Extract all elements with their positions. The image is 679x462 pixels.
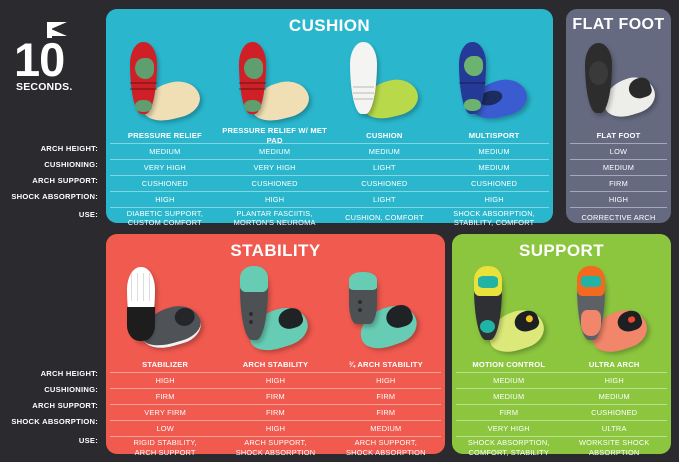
cell-value: LOW [110, 421, 220, 436]
table-row-cushioning: MEDIUM MEDIUM [456, 388, 667, 404]
column-header-pressure-relief: PRESSURE RELIEF [110, 128, 220, 143]
row-label-cushioning: CUSHIONING: [0, 156, 103, 172]
table-row-cushioning: MEDIUM [570, 159, 667, 175]
table-row-cushioning: VERY HIGH VERY HIGH LIGHT MEDIUM [110, 159, 549, 175]
table-cushion: PRESSURE RELIEF PRESSURE RELIEF W/ MET P… [110, 128, 549, 228]
cell-value: CUSHION, COMFORT [330, 208, 440, 228]
column-header-pressure-relief-met-pad: PRESSURE RELIEF W/ MET PAD [220, 128, 330, 143]
insole-pressure-relief-icon [116, 39, 216, 127]
product-images-cushion [112, 39, 547, 127]
insole-three-quarter-arch-stability-icon [333, 264, 437, 356]
cell-value: MEDIUM [331, 421, 441, 436]
panel-flat-foot: FLAT FOOT FLAT FOOT LOW MEDIUM [566, 9, 671, 223]
row-label-arch-support: ARCH SUPPORT: [0, 397, 103, 413]
table-row-arch-height: MEDIUM MEDIUM MEDIUM MEDIUM [110, 143, 549, 159]
cell-value: FIRM [110, 389, 220, 404]
table-row-use: DIABETIC SUPPORT, CUSTOM COMFORT PLANTAR… [110, 207, 549, 228]
column-header-ultra-arch: ULTRA ARCH [562, 357, 668, 372]
cell-value: CUSHIONED [439, 176, 549, 191]
row-labels-top: ARCH HEIGHT: CUSHIONING: ARCH SUPPORT: S… [0, 140, 103, 225]
column-header-cushion: CUSHION [330, 128, 440, 143]
cell-value: HIGH [220, 421, 330, 436]
insole-ultra-arch-icon [563, 264, 663, 356]
cell-value: LIGHT [330, 160, 440, 175]
cell-value: CUSHIONED [110, 176, 220, 191]
cell-value: HIGH [110, 373, 220, 388]
cell-value: MEDIUM [110, 144, 220, 159]
table-row-arch-height: LOW [570, 143, 667, 159]
row-labels-bottom: ARCH HEIGHT: CUSHIONING: ARCH SUPPORT: S… [0, 365, 103, 451]
cell-value: MEDIUM [562, 389, 668, 404]
column-header-arch-stability: ARCH STABILITY [220, 357, 330, 372]
cell-value: HIGH [220, 192, 330, 207]
cell-value: MEDIUM [570, 160, 667, 175]
panel-cushion: CUSHION [106, 9, 553, 223]
column-header-three-quarter-arch-stability: ¾ ARCH STABILITY [331, 357, 441, 372]
table-header-row-support: MOTION CONTROL ULTRA ARCH [456, 357, 667, 372]
column-header-flat-foot: FLAT FOOT [570, 128, 667, 143]
cell-value: VERY HIGH [110, 160, 220, 175]
product-images-flat-foot [568, 39, 669, 127]
cell-value: CORRECTIVE ARCH [570, 208, 667, 228]
panel-title-support: SUPPORT [452, 241, 671, 261]
insole-cushion-icon [334, 39, 434, 127]
table-row-arch-support: FIRM [570, 175, 667, 191]
cell-value: HIGH [110, 192, 220, 207]
panel-support: SUPPORT [452, 234, 671, 454]
cell-value: VERY FIRM [110, 405, 220, 420]
cell-value: HIGH [220, 373, 330, 388]
cell-value: HIGH [562, 373, 668, 388]
cell-value: VERY HIGH [456, 421, 562, 436]
cell-value: HIGH [439, 192, 549, 207]
logo-number: 10 [14, 36, 64, 83]
cell-value: WORKSITE SHOCK ABSORPTION [562, 437, 668, 458]
row-label-arch-support: ARCH SUPPORT: [0, 172, 103, 188]
row-label-use: USE: [0, 429, 103, 451]
cell-value: RIGID STABILITY, ARCH SUPPORT [110, 437, 220, 458]
column-header-stabilizer: STABILIZER [110, 357, 220, 372]
cell-value: FIRM [220, 389, 330, 404]
table-row-shock-absorption: HIGH HIGH LIGHT HIGH [110, 191, 549, 207]
panel-stability: STABILITY [106, 234, 445, 454]
table-row-cushioning: FIRM FIRM FIRM [110, 388, 441, 404]
cell-value: MEDIUM [439, 160, 549, 175]
insole-stabilizer-icon [115, 264, 219, 356]
panel-title-stability: STABILITY [106, 241, 445, 261]
cell-value: FIRM [331, 405, 441, 420]
table-row-shock-absorption: LOW HIGH MEDIUM [110, 420, 441, 436]
panel-title-flat-foot: FLAT FOOT [566, 16, 671, 34]
insole-flat-foot-icon [569, 39, 669, 127]
table-row-arch-height: HIGH HIGH HIGH [110, 372, 441, 388]
cell-value: PLANTAR FASCIITIS, MORTON'S NEUROMA [220, 208, 330, 228]
product-images-support [458, 264, 665, 356]
cell-value: FIRM [570, 176, 667, 191]
column-header-motion-control: MOTION CONTROL [456, 357, 562, 372]
cell-value: HIGH [331, 373, 441, 388]
row-label-shock-absorption: SHOCK ABSORPTION: [0, 188, 103, 204]
cell-value: HIGH [570, 192, 667, 207]
cell-value: LIGHT [330, 192, 440, 207]
table-row-arch-support: VERY FIRM FIRM FIRM [110, 404, 441, 420]
row-label-arch-height: ARCH HEIGHT: [0, 140, 103, 156]
cell-value: CUSHIONED [330, 176, 440, 191]
table-row-use: CORRECTIVE ARCH [570, 207, 667, 228]
brand-logo: 10 SECONDS. [14, 22, 94, 102]
cell-value: MEDIUM [456, 373, 562, 388]
table-row-arch-height: MEDIUM HIGH [456, 372, 667, 388]
table-header-row-stability: STABILIZER ARCH STABILITY ¾ ARCH STABILI… [110, 357, 441, 372]
cell-value: FIRM [331, 389, 441, 404]
table-row-shock-absorption: VERY HIGH ULTRA [456, 420, 667, 436]
cell-value: FIRM [220, 405, 330, 420]
cell-value: SHOCK ABSORPTION, COMFORT, STABILITY [456, 437, 562, 458]
cell-value: DIABETIC SUPPORT, CUSTOM COMFORT [110, 208, 220, 228]
table-flat-foot: FLAT FOOT LOW MEDIUM FIRM HIGH CORRECTIV… [570, 128, 667, 228]
table-row-arch-support: CUSHIONED CUSHIONED CUSHIONED CUSHIONED [110, 175, 549, 191]
table-support: MOTION CONTROL ULTRA ARCH MEDIUM HIGH ME… [456, 357, 667, 458]
table-row-use: SHOCK ABSORPTION, COMFORT, STABILITY WOR… [456, 436, 667, 458]
table-stability: STABILIZER ARCH STABILITY ¾ ARCH STABILI… [110, 357, 441, 458]
cell-value: FIRM [456, 405, 562, 420]
column-header-multisport: MULTISPORT [439, 128, 549, 143]
row-label-arch-height: ARCH HEIGHT: [0, 365, 103, 381]
table-header-row-cushion: PRESSURE RELIEF PRESSURE RELIEF W/ MET P… [110, 128, 549, 143]
table-header-row-flat-foot: FLAT FOOT [570, 128, 667, 143]
panel-title-cushion: CUSHION [106, 16, 553, 36]
insole-motion-control-icon [460, 264, 560, 356]
table-row-shock-absorption: HIGH [570, 191, 667, 207]
cell-value: CUSHIONED [220, 176, 330, 191]
product-images-stability [112, 264, 439, 356]
cell-value: VERY HIGH [220, 160, 330, 175]
table-row-use: RIGID STABILITY, ARCH SUPPORT ARCH SUPPO… [110, 436, 441, 458]
cell-value: ARCH SUPPORT, SHOCK ABSORPTION [331, 437, 441, 458]
cell-value: ARCH SUPPORT, SHOCK ABSORPTION [220, 437, 330, 458]
cell-value: MEDIUM [220, 144, 330, 159]
insole-multisport-icon [443, 39, 543, 127]
cell-value: CUSHIONED [562, 405, 668, 420]
insole-arch-stability-icon [224, 264, 328, 356]
cell-value: LOW [570, 144, 667, 159]
cell-value: SHOCK ABSORPTION, STABILITY, COMFORT [439, 208, 549, 228]
cell-value: MEDIUM [456, 389, 562, 404]
insole-pressure-relief-met-pad-icon [225, 39, 325, 127]
insole-comparison-chart: 10 SECONDS. CUSHION [0, 0, 679, 462]
row-label-shock-absorption: SHOCK ABSORPTION: [0, 413, 103, 429]
cell-value: MEDIUM [330, 144, 440, 159]
row-label-use: USE: [0, 204, 103, 225]
row-label-cushioning: CUSHIONING: [0, 381, 103, 397]
logo-wordmark: SECONDS. [16, 81, 72, 93]
cell-value: ULTRA [562, 421, 668, 436]
table-row-arch-support: FIRM CUSHIONED [456, 404, 667, 420]
cell-value: MEDIUM [439, 144, 549, 159]
